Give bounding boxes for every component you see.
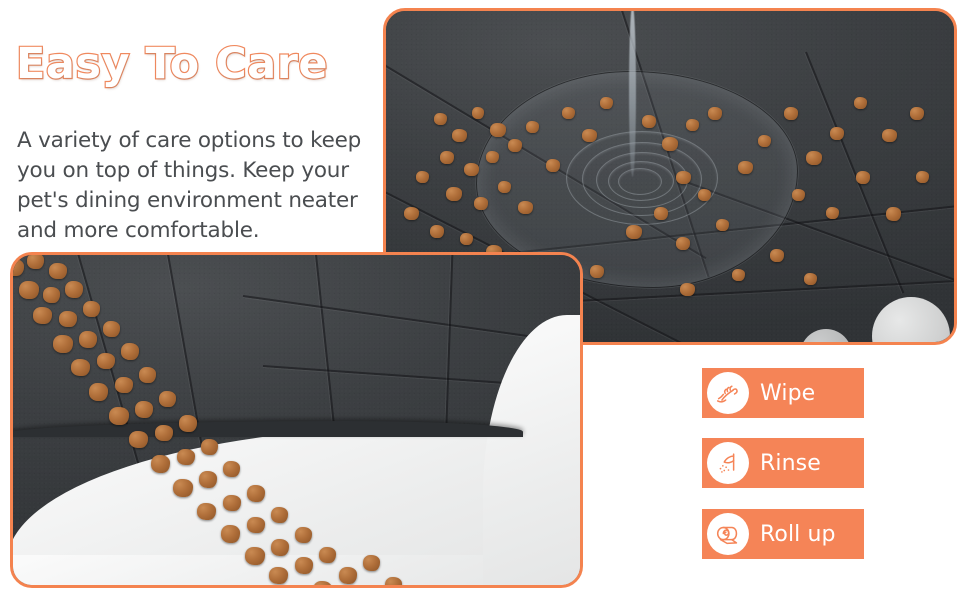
feature-badge-wipe[interactable]: Wipe [702,368,864,418]
feature-badge-label: Roll up [760,522,836,547]
rolled-mat-icon [707,513,749,555]
description-text: A variety of care options to keep you on… [17,126,387,246]
feature-badge-rinse[interactable]: Rinse [702,438,864,488]
shower-head-icon [707,442,749,484]
page-title: Easy To Care [16,43,328,86]
feature-badge-rollup[interactable]: Roll up [702,509,864,559]
kibble-pouring-off-mat-photo [10,252,583,588]
feature-badge-label: Rinse [760,451,821,476]
water-stream [629,11,636,177]
promo-banner: Easy To Care A variety of care options t… [0,0,970,600]
wipe-hand-cloth-icon [707,372,749,414]
feature-badge-label: Wipe [760,381,815,406]
photo-bottom-content [13,255,580,585]
